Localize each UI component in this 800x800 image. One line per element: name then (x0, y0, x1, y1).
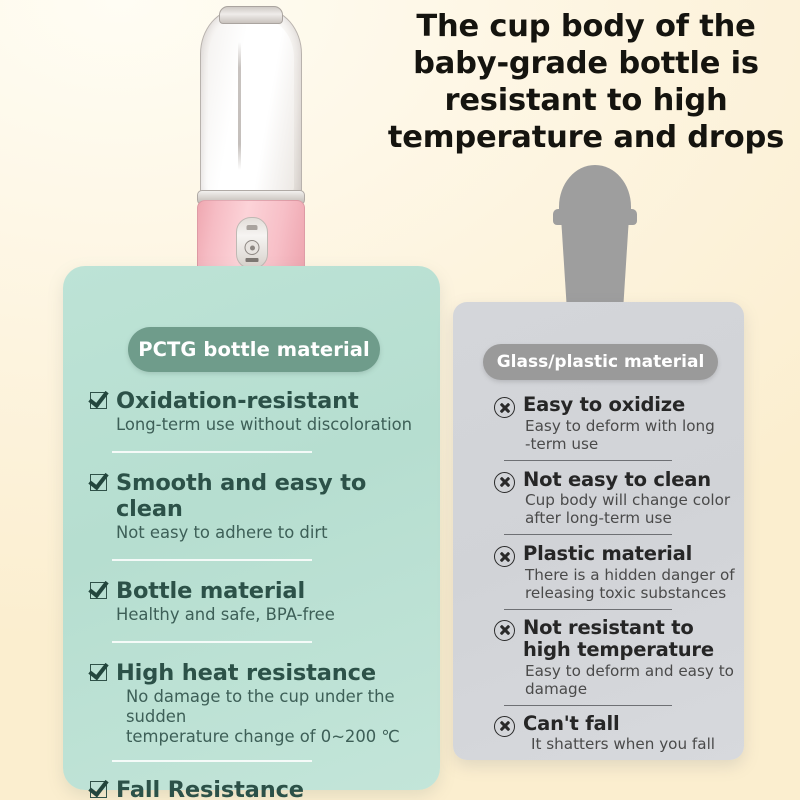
check-icon (90, 777, 116, 798)
drawback-detail: Cup body will change color after long-te… (525, 491, 742, 527)
x-icon (494, 394, 523, 418)
drawback-title: Plastic material (523, 543, 742, 566)
x-icon (494, 543, 523, 567)
bottle-highlight (238, 42, 241, 170)
benefit-title: High heat resistance (116, 660, 376, 686)
list-item: Can't fall It shatters when you fall (494, 713, 742, 754)
glass-plastic-material-badge: Glass/plastic material (483, 344, 718, 380)
pctg-material-badge: PCTG bottle material (128, 327, 380, 372)
divider (112, 641, 312, 643)
list-item: Not easy to clean Cup body will change c… (494, 469, 742, 528)
drawback-title: Not easy to clean (523, 469, 742, 492)
drawback-title: Easy to oxidize (523, 394, 742, 417)
bottle-jar-inner (208, 18, 294, 195)
benefit-title: Oxidation-resistant (116, 388, 359, 414)
product-blender-bottle-image (189, 4, 311, 289)
benefit-detail: No damage to the cup under the sudden te… (126, 687, 436, 747)
divider (504, 609, 672, 610)
benefit-detail: Long-term use without discoloration (116, 415, 436, 435)
bottle-control-panel (236, 217, 268, 269)
divider (504, 534, 672, 535)
list-item: Not resistant to high temperature Easy t… (494, 617, 742, 698)
list-item: Easy to oxidize Easy to deform with long… (494, 394, 742, 453)
x-icon (494, 469, 523, 493)
divider (504, 460, 672, 461)
drawback-detail: Easy to deform with long -term use (525, 417, 742, 453)
list-item: Bottle material Healthy and safe, BPA-fr… (90, 578, 436, 625)
list-item: Plastic material There is a hidden dange… (494, 543, 742, 602)
pctg-benefit-list: Oxidation-resistant Long-term use withou… (90, 388, 436, 800)
power-button-icon (245, 240, 260, 255)
list-item: Smooth and easy to clean Not easy to adh… (90, 470, 436, 543)
benefit-title: Bottle material (116, 578, 305, 604)
benefit-title: Smooth and easy to clean (116, 470, 366, 522)
drawback-title: Can't fall (523, 713, 742, 736)
check-icon (90, 660, 116, 681)
infographic-canvas: The cup body of the baby-grade bottle is… (0, 0, 800, 800)
check-icon (90, 388, 116, 409)
drawback-detail: It shatters when you fall (531, 735, 742, 753)
check-icon (90, 578, 116, 599)
benefit-title: Fall Resistance (116, 777, 304, 800)
drawback-detail: There is a hidden danger of releasing to… (525, 566, 742, 602)
charge-indicator-icon (246, 258, 259, 262)
list-item: Fall Resistance Never worry about fallin… (90, 777, 436, 800)
x-icon (494, 617, 523, 641)
divider (112, 451, 312, 453)
divider (504, 705, 672, 706)
benefit-detail: Not easy to adhere to dirt (116, 523, 436, 543)
divider (112, 760, 312, 762)
drawback-title: Not resistant to high temperature (523, 617, 742, 662)
x-icon (494, 713, 523, 737)
bottle-jar (200, 8, 302, 200)
bottle-lid (219, 6, 283, 24)
benefit-detail: Healthy and safe, BPA-free (116, 605, 436, 625)
cup-dome-lid (559, 165, 631, 225)
list-item: Oxidation-resistant Long-term use withou… (90, 388, 436, 435)
glass-plastic-drawback-list: Easy to oxidize Easy to deform with long… (494, 394, 742, 753)
divider (112, 559, 312, 561)
drawback-detail: Easy to deform and easy to damage (525, 662, 742, 698)
list-item: High heat resistance No damage to the cu… (90, 660, 436, 747)
page-title: The cup body of the baby-grade bottle is… (384, 8, 788, 156)
check-icon (90, 470, 116, 491)
battery-indicator-icon (247, 225, 258, 230)
